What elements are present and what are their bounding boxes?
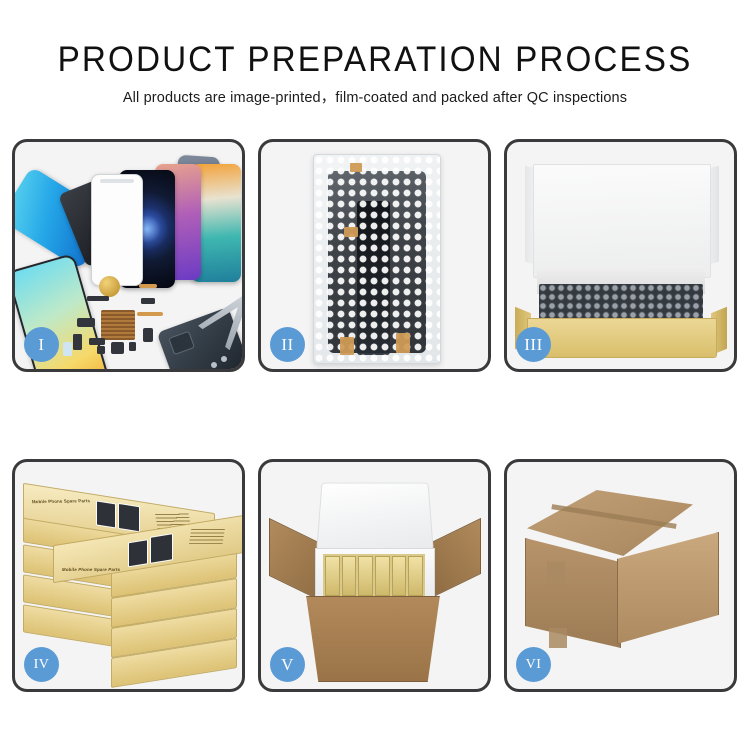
product-window bbox=[150, 533, 173, 564]
box-lid bbox=[533, 164, 711, 278]
carton-body bbox=[297, 596, 449, 682]
screw bbox=[221, 356, 227, 362]
tape-piece bbox=[344, 227, 358, 237]
packed-box-item bbox=[342, 556, 357, 596]
box-label-text: Mobile Phone Spare Parts bbox=[32, 498, 91, 504]
page-title: PRODUCT PREPARATION PROCESS bbox=[19, 41, 732, 79]
product-preparation-infographic: PRODUCT PREPARATION PROCESS All products… bbox=[0, 0, 750, 750]
step-panel-1: I bbox=[12, 139, 245, 372]
tape-piece bbox=[340, 337, 354, 355]
product-window bbox=[118, 503, 140, 532]
small-part bbox=[97, 346, 105, 354]
bubble-wrap-pouch bbox=[313, 154, 441, 364]
tempered-glass-protector bbox=[91, 174, 143, 286]
small-part bbox=[87, 296, 109, 301]
step-panel-4: Mobile Phone Spare Parts Mobile Phone Sp… bbox=[12, 459, 245, 692]
small-part bbox=[63, 342, 72, 356]
step-badge-3: III bbox=[516, 327, 551, 362]
product-window bbox=[96, 500, 116, 528]
small-part bbox=[89, 338, 105, 345]
kraft-box-front bbox=[527, 318, 717, 358]
box-stack: Mobile Phone Spare Parts Mobile Phone Sp… bbox=[23, 480, 239, 680]
tape-piece bbox=[350, 163, 362, 172]
carton-face-left bbox=[525, 538, 621, 648]
logic-board bbox=[101, 310, 135, 340]
step-panel-6: VI bbox=[504, 459, 737, 692]
tape-strip bbox=[549, 628, 567, 648]
small-part bbox=[129, 342, 136, 351]
gold-component bbox=[99, 276, 120, 297]
small-part bbox=[111, 342, 124, 354]
small-part bbox=[139, 284, 157, 288]
packed-box-item bbox=[408, 556, 423, 596]
step-badge-6: VI bbox=[516, 647, 551, 682]
step-badge-5: V bbox=[270, 647, 305, 682]
packed-box-item bbox=[325, 556, 340, 596]
step-panel-3: III bbox=[504, 139, 737, 372]
bubble-wrapped-contents bbox=[539, 284, 703, 320]
bubble-texture bbox=[314, 155, 440, 363]
small-part bbox=[73, 334, 82, 350]
packed-box-item bbox=[392, 556, 407, 596]
step-badge-4: IV bbox=[24, 647, 59, 682]
spec-lines bbox=[189, 528, 225, 544]
step-badge-2: II bbox=[270, 327, 305, 362]
flex-cable bbox=[137, 312, 163, 316]
product-window bbox=[128, 539, 148, 567]
header: PRODUCT PREPARATION PROCESS All products… bbox=[0, 0, 750, 107]
small-part bbox=[143, 328, 153, 342]
packed-boxes bbox=[323, 554, 425, 598]
box-label-text: Mobile Phone Spare Parts bbox=[62, 567, 121, 572]
foam-lid bbox=[316, 483, 434, 551]
step-panel-2: II bbox=[258, 139, 491, 372]
screw bbox=[211, 362, 217, 368]
process-steps-grid: I II bbox=[12, 139, 738, 692]
step-panel-5: V bbox=[258, 459, 491, 692]
tape-piece bbox=[396, 333, 410, 353]
small-part bbox=[141, 298, 155, 304]
tape-strip bbox=[547, 562, 565, 586]
packed-box-item bbox=[358, 556, 373, 596]
page-subtitle: All products are image-printed，film-coat… bbox=[0, 90, 750, 107]
packed-box-item bbox=[375, 556, 390, 596]
small-part bbox=[77, 318, 95, 327]
step-badge-1: I bbox=[24, 327, 59, 362]
